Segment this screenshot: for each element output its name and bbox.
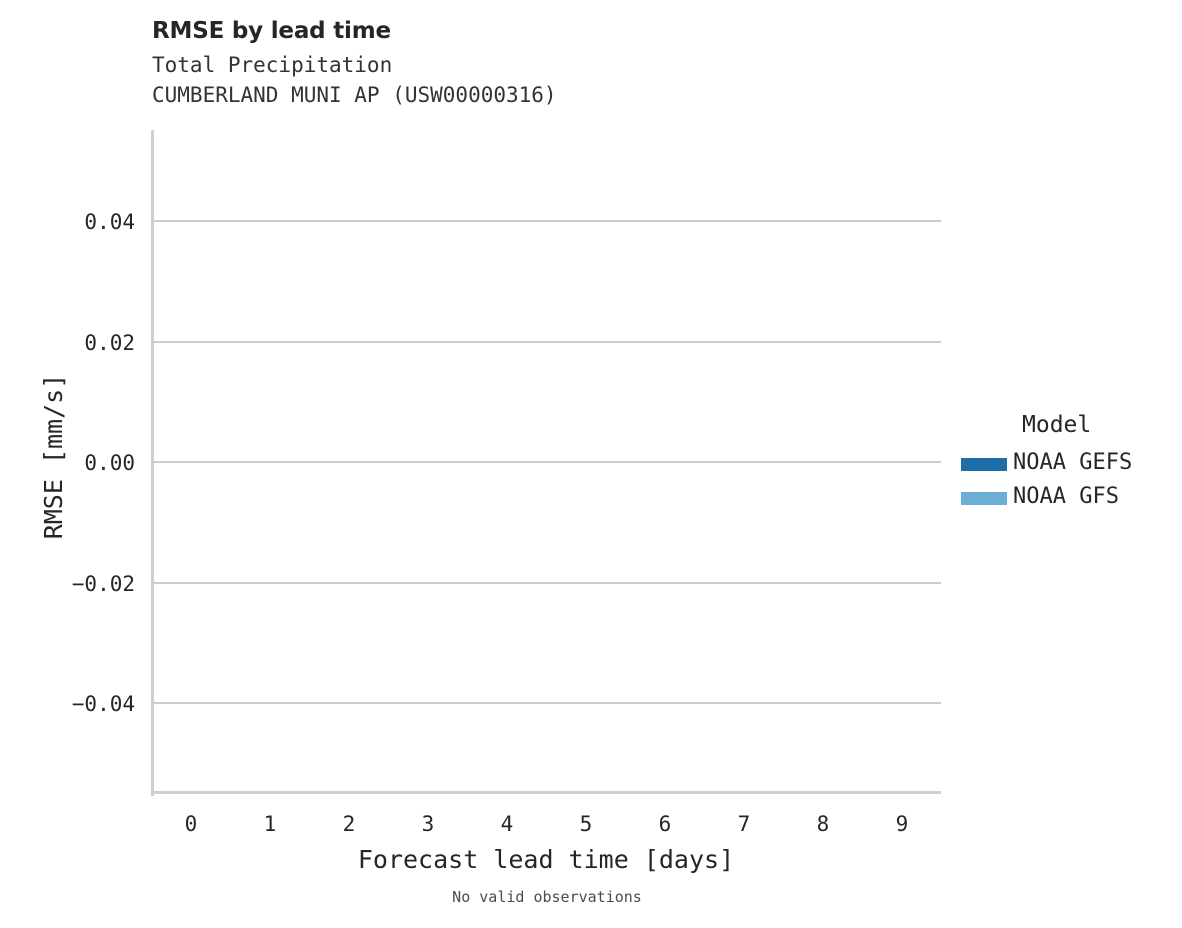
x-tick-label-5: 5 bbox=[566, 812, 606, 836]
chart-subtitle-variable: Total Precipitation bbox=[152, 53, 392, 77]
x-axis-label: Forecast lead time [days] bbox=[151, 845, 941, 874]
gridline--0.02 bbox=[154, 582, 941, 584]
x-tick-label-6: 6 bbox=[645, 812, 685, 836]
chart-subtitle: Total Precipitation CUMBERLAND MUNI AP (… bbox=[152, 50, 557, 110]
legend-swatch-noaa-gfs bbox=[961, 492, 1007, 505]
x-tick-label-7: 7 bbox=[724, 812, 764, 836]
x-tick-label-9: 9 bbox=[882, 812, 922, 836]
chart-subtitle-station: CUMBERLAND MUNI AP (USW00000316) bbox=[152, 83, 557, 107]
legend-label-noaa-gfs: NOAA GFS bbox=[1013, 484, 1119, 509]
gridline--0.04 bbox=[154, 702, 941, 704]
legend-label-noaa-gefs: NOAA GEFS bbox=[1013, 450, 1132, 475]
x-tick-label-0: 0 bbox=[171, 812, 211, 836]
x-tick-label-8: 8 bbox=[803, 812, 843, 836]
x-tick-label-3: 3 bbox=[408, 812, 448, 836]
gridline-0.00 bbox=[154, 461, 941, 463]
x-axis-spine bbox=[151, 791, 941, 794]
footer-caption: No valid observations bbox=[0, 888, 1094, 906]
x-tick-label-2: 2 bbox=[329, 812, 369, 836]
y-axis-label: RMSE [mm/s] bbox=[39, 125, 68, 788]
x-tick-label-1: 1 bbox=[250, 812, 290, 836]
legend-title: Model bbox=[1022, 412, 1091, 438]
gridline-0.04 bbox=[154, 220, 941, 222]
y-axis-spine bbox=[151, 130, 154, 796]
legend-swatch-noaa-gefs bbox=[961, 458, 1007, 471]
gridline-0.02 bbox=[154, 341, 941, 343]
chart-title: RMSE by lead time bbox=[152, 18, 391, 44]
x-tick-label-4: 4 bbox=[487, 812, 527, 836]
